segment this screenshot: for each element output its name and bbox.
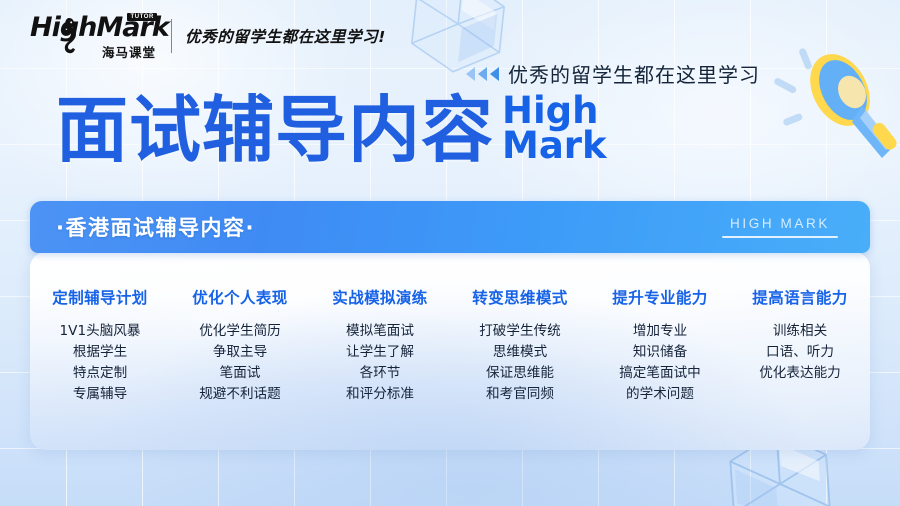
page-title: 面试辅导内容 High Mark [56, 92, 607, 168]
column-line: 1V1头脑风暴 [60, 321, 141, 342]
column-line: 笔面试 [220, 363, 261, 384]
column-line: 的学术问题 [626, 384, 694, 405]
content-column: 优化个人表现优化学生简历争取主导笔面试规避不利话题 [170, 286, 310, 436]
megaphone-icon [766, 18, 900, 168]
section-brand-label: HIGH MARK [722, 216, 838, 231]
logo-subtitle: 海马课堂 [102, 42, 156, 61]
tagline: 优秀的留学生都在这里学习 [466, 59, 760, 88]
column-heading: 定制辅导计划 [52, 286, 147, 308]
column-line: 打破学生传统 [479, 321, 561, 342]
content-columns: 定制辅导计划1V1头脑风暴根据学生特点定制专属辅导优化个人表现优化学生简历争取主… [30, 286, 870, 436]
column-line: 训练相关 [773, 321, 827, 342]
brand-divider [171, 19, 172, 53]
content-column: 实战模拟演练模拟笔面试让学生了解各环节和评分标准 [310, 286, 450, 436]
logo: HighMark TUTOR 海马课堂 [30, 14, 158, 58]
column-heading: 优化个人表现 [192, 286, 287, 308]
content-column: 提高语言能力训练相关口语、听力优化表达能力 [730, 286, 870, 436]
column-heading: 提升专业能力 [612, 286, 707, 308]
title-en-line2: Mark [502, 128, 607, 163]
column-line: 优化表达能力 [759, 363, 841, 384]
column-line: 搞定笔面试中 [619, 363, 701, 384]
column-line: 根据学生 [73, 342, 127, 363]
column-line: 各环节 [360, 363, 401, 384]
content-column: 提升专业能力增加专业知识储备搞定笔面试中的学术问题 [590, 286, 730, 436]
tagline-text: 优秀的留学生都在这里学习 [508, 59, 760, 88]
column-line: 争取主导 [213, 342, 267, 363]
logo-badge: TUTOR [127, 13, 157, 21]
seahorse-icon [58, 16, 80, 56]
section-brand-underline [722, 236, 838, 238]
column-line: 增加专业 [633, 321, 687, 342]
title-main: 面试辅导内容 [56, 92, 494, 168]
triangle-left-icon [466, 67, 499, 81]
column-line: 模拟笔面试 [346, 321, 414, 342]
column-line: 口语、听力 [766, 342, 834, 363]
column-heading: 实战模拟演练 [332, 286, 427, 308]
column-line: 和考官同频 [486, 384, 554, 405]
content-column: 定制辅导计划1V1头脑风暴根据学生特点定制专属辅导 [30, 286, 170, 436]
brand-slogan: 优秀的留学生都在这里学习! [185, 25, 386, 47]
title-english: High Mark [502, 93, 607, 168]
section-header-bar: ·香港面试辅导内容· HIGH MARK [30, 201, 870, 253]
content-column: 转变思维模式打破学生传统思维模式保证思维能和考官同频 [450, 286, 590, 436]
title-en-line1: High [502, 93, 607, 128]
column-line: 让学生了解 [346, 342, 414, 363]
column-heading: 转变思维模式 [472, 286, 567, 308]
column-line: 特点定制 [73, 363, 127, 384]
column-line: 规避不利话题 [199, 384, 281, 405]
column-line: 和评分标准 [346, 384, 414, 405]
column-line: 思维模式 [493, 342, 547, 363]
section-title: ·香港面试辅导内容· [56, 212, 255, 242]
brand-bar: HighMark TUTOR 海马课堂 优秀的留学生都在这里学习! [30, 14, 386, 58]
column-heading: 提高语言能力 [752, 286, 847, 308]
poster-canvas: HighMark TUTOR 海马课堂 优秀的留学生都在这里学习! 优秀的留学生… [0, 0, 900, 506]
column-line: 优化学生简历 [199, 321, 281, 342]
column-line: 知识储备 [633, 342, 687, 363]
column-line: 保证思维能 [486, 363, 554, 384]
section-brand-mark: HIGH MARK [722, 216, 844, 238]
column-line: 专属辅导 [73, 384, 127, 405]
